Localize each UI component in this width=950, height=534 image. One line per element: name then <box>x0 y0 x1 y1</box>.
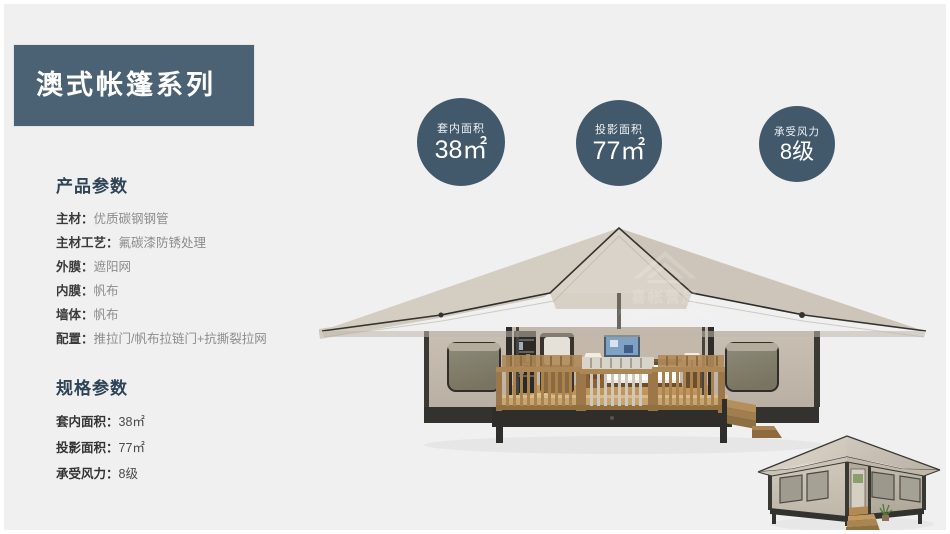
spec-row: 承受风力：8级 <box>56 461 145 487</box>
slide-canvas: 澳式帐篷系列 产品参数 主材：优质碳钢钢管 主材工艺：氟碳漆防锈处理 外膜：遮阳… <box>4 4 946 530</box>
small-tent-illustration <box>752 424 946 530</box>
product-params-section: 产品参数 主材：优质碳钢钢管 主材工艺：氟碳漆防锈处理 外膜：遮阳网 内膜：帆布… <box>56 172 267 351</box>
spec-value: 8级 <box>119 467 138 481</box>
spec-value: 氟碳漆防锈处理 <box>119 236 207 250</box>
spec-label: 主材工艺： <box>56 236 119 250</box>
title-banner: 澳式帐篷系列 <box>14 45 254 126</box>
stat-badge-wind-resistance: 承受风力 8级 <box>759 106 835 182</box>
stat-badge-projected-area: 投影面积 77㎡ <box>576 100 662 186</box>
spec-label: 承受风力： <box>56 467 119 481</box>
spec-label: 主材： <box>56 212 94 226</box>
spec-row: 墙体：帆布 <box>56 303 267 327</box>
spec-label: 外膜： <box>56 260 94 274</box>
spec-label: 墙体： <box>56 308 94 322</box>
spec-value: 77㎡ <box>119 441 145 455</box>
spec-label: 投影面积： <box>56 441 119 455</box>
spec-value: 帆布 <box>94 284 119 298</box>
spec-label: 配置： <box>56 332 94 346</box>
size-params-heading: 规格参数 <box>56 374 145 399</box>
spec-value: 推拉门/帆布拉链门+抗撕裂拉网 <box>94 332 267 346</box>
spec-row: 主材工艺：氟碳漆防锈处理 <box>56 231 267 255</box>
stat-badge-label: 投影面积 <box>595 121 643 137</box>
stat-badge-value: 8级 <box>780 140 814 163</box>
main-tent-illustration <box>314 209 934 459</box>
stat-badge-label: 套内面积 <box>437 120 485 136</box>
spec-row: 外膜：遮阳网 <box>56 255 267 279</box>
product-params-heading: 产品参数 <box>56 172 267 197</box>
spec-row: 主材：优质碳钢钢管 <box>56 207 267 231</box>
spec-label: 内膜： <box>56 284 94 298</box>
spec-value: 38㎡ <box>119 415 145 429</box>
size-params-section: 规格参数 套内面积：38㎡ 投影面积：77㎡ 承受风力：8级 <box>56 374 145 487</box>
spec-row: 配置：推拉门/帆布拉链门+抗撕裂拉网 <box>56 327 267 351</box>
stat-badge-label: 承受风力 <box>774 124 820 139</box>
page-title: 澳式帐篷系列 <box>14 72 216 99</box>
spec-value: 帆布 <box>94 308 119 322</box>
spec-row: 内膜：帆布 <box>56 279 267 303</box>
stat-badge-value: 38㎡ <box>435 137 488 163</box>
spec-value: 优质碳钢钢管 <box>94 212 169 226</box>
stat-badge-value: 77㎡ <box>593 138 646 164</box>
spec-row: 套内面积：38㎡ <box>56 409 145 435</box>
spec-row: 投影面积：77㎡ <box>56 435 145 461</box>
stat-badge-interior-area: 套内面积 38㎡ <box>417 98 505 186</box>
small-tent-image <box>752 424 946 530</box>
main-tent-image: 喜帐营居 XIZHANG TENT <box>314 209 934 459</box>
spec-label: 套内面积： <box>56 415 119 429</box>
spec-value: 遮阳网 <box>94 260 132 274</box>
